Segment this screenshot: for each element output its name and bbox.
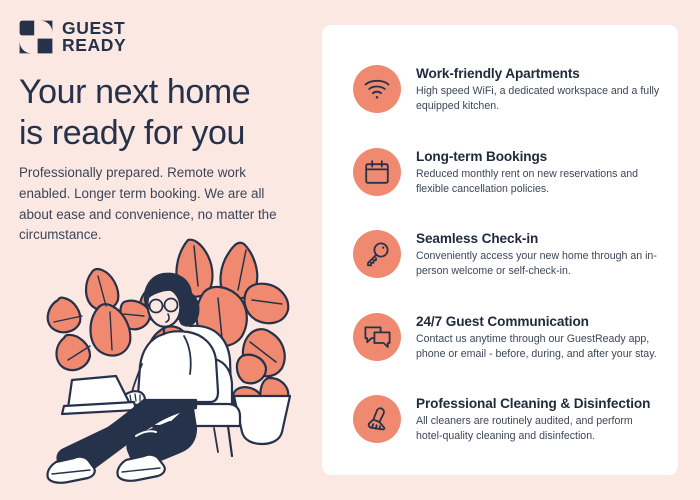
feature-text: Seamless Check-in Conveniently access yo… <box>416 228 662 279</box>
feature-item-seamless-check-in[interactable]: Seamless Check-in Conveniently access yo… <box>353 228 662 311</box>
feature-list: Work-friendly Apartments High speed WiFi… <box>322 25 678 476</box>
brand-logo[interactable]: GUEST READY <box>19 20 126 54</box>
wifi-icon <box>353 65 401 113</box>
feature-text: Professional Cleaning & Disinfection All… <box>416 393 662 444</box>
features-card: Work-friendly Apartments High speed WiFi… <box>322 25 678 475</box>
calendar-icon <box>353 148 401 196</box>
feature-title: Work-friendly Apartments <box>416 66 662 81</box>
headline-line-1: Your next home <box>19 73 250 111</box>
page-title: Your next home is ready for you <box>19 72 309 155</box>
chat-bubbles-icon <box>353 313 401 361</box>
feature-item-professional-cleaning[interactable]: Professional Cleaning & Disinfection All… <box>353 393 662 476</box>
headline-line-2: is ready for you <box>19 113 309 154</box>
feature-text: Long-term Bookings Reduced monthly rent … <box>416 146 662 197</box>
brand-name-line2: READY <box>62 37 126 54</box>
feature-description: All cleaners are routinely audited, and … <box>416 414 662 444</box>
feature-item-long-term-bookings[interactable]: Long-term Bookings Reduced monthly rent … <box>353 146 662 229</box>
feature-description: High speed WiFi, a dedicated workspace a… <box>416 84 662 114</box>
brand-wordmark: GUEST READY <box>62 20 126 54</box>
hero-illustration <box>38 228 316 490</box>
key-icon <box>353 230 401 278</box>
feature-description: Contact us anytime through our GuestRead… <box>416 332 662 362</box>
feature-title: 24/7 Guest Communication <box>416 314 662 329</box>
broom-icon <box>353 395 401 443</box>
feature-text: Work-friendly Apartments High speed WiFi… <box>416 63 662 114</box>
feature-description: Reduced monthly rent on new reservations… <box>416 167 662 197</box>
feature-item-work-friendly-apartments[interactable]: Work-friendly Apartments High speed WiFi… <box>353 63 662 146</box>
guestready-logo-icon <box>19 20 53 54</box>
feature-text: 24/7 Guest Communication Contact us anyt… <box>416 311 662 362</box>
feature-title: Seamless Check-in <box>416 231 662 246</box>
feature-title: Professional Cleaning & Disinfection <box>416 396 662 411</box>
hero-panel: GUEST READY Your next home is ready for … <box>0 0 322 500</box>
feature-title: Long-term Bookings <box>416 149 662 164</box>
feature-description: Conveniently access your new home throug… <box>416 249 662 279</box>
feature-item-guest-communication[interactable]: 24/7 Guest Communication Contact us anyt… <box>353 311 662 394</box>
